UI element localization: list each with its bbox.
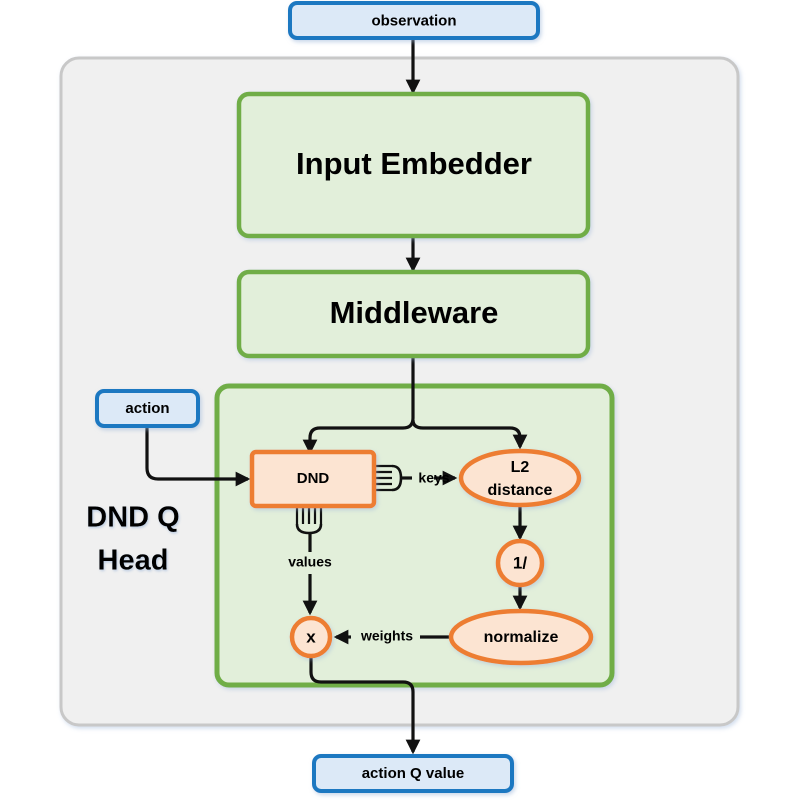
- node-dnd[interactable]: DND: [252, 452, 374, 506]
- node-input-embedder[interactable]: Input Embedder: [239, 94, 588, 236]
- values-edge-label: values: [288, 554, 332, 570]
- node-action-q-value[interactable]: action Q value: [314, 756, 512, 791]
- title-line-1: DND Q: [86, 502, 179, 534]
- multiply-label: x: [306, 627, 316, 646]
- node-normalize[interactable]: normalize: [451, 611, 591, 663]
- keys-edge-label: keys: [418, 470, 449, 486]
- l2-distance-label-line2: distance: [488, 482, 553, 499]
- dnd-label: DND: [297, 470, 330, 487]
- l2-distance-label-line1: L2: [511, 459, 530, 476]
- input-embedder-label: Input Embedder: [296, 146, 532, 181]
- action-q-value-label: action Q value: [362, 765, 465, 782]
- title-line-2: Head: [98, 545, 169, 577]
- node-l2-distance[interactable]: L2 distance: [461, 451, 579, 505]
- node-middleware[interactable]: Middleware: [239, 272, 588, 356]
- reciprocal-label: 1/: [513, 553, 527, 572]
- action-label: action: [125, 400, 169, 417]
- weights-edge-label: weights: [360, 628, 413, 644]
- dnd-q-head-diagram: observation Input Embedder Middleware ac…: [0, 0, 800, 800]
- node-reciprocal[interactable]: 1/: [498, 541, 542, 585]
- normalize-label: normalize: [484, 629, 559, 646]
- node-multiply[interactable]: x: [292, 618, 330, 656]
- node-action[interactable]: action: [97, 391, 198, 426]
- node-observation[interactable]: observation: [290, 3, 538, 38]
- middleware-label: Middleware: [330, 295, 499, 330]
- diagram-canvas: observation Input Embedder Middleware ac…: [0, 0, 800, 800]
- observation-label: observation: [371, 12, 456, 29]
